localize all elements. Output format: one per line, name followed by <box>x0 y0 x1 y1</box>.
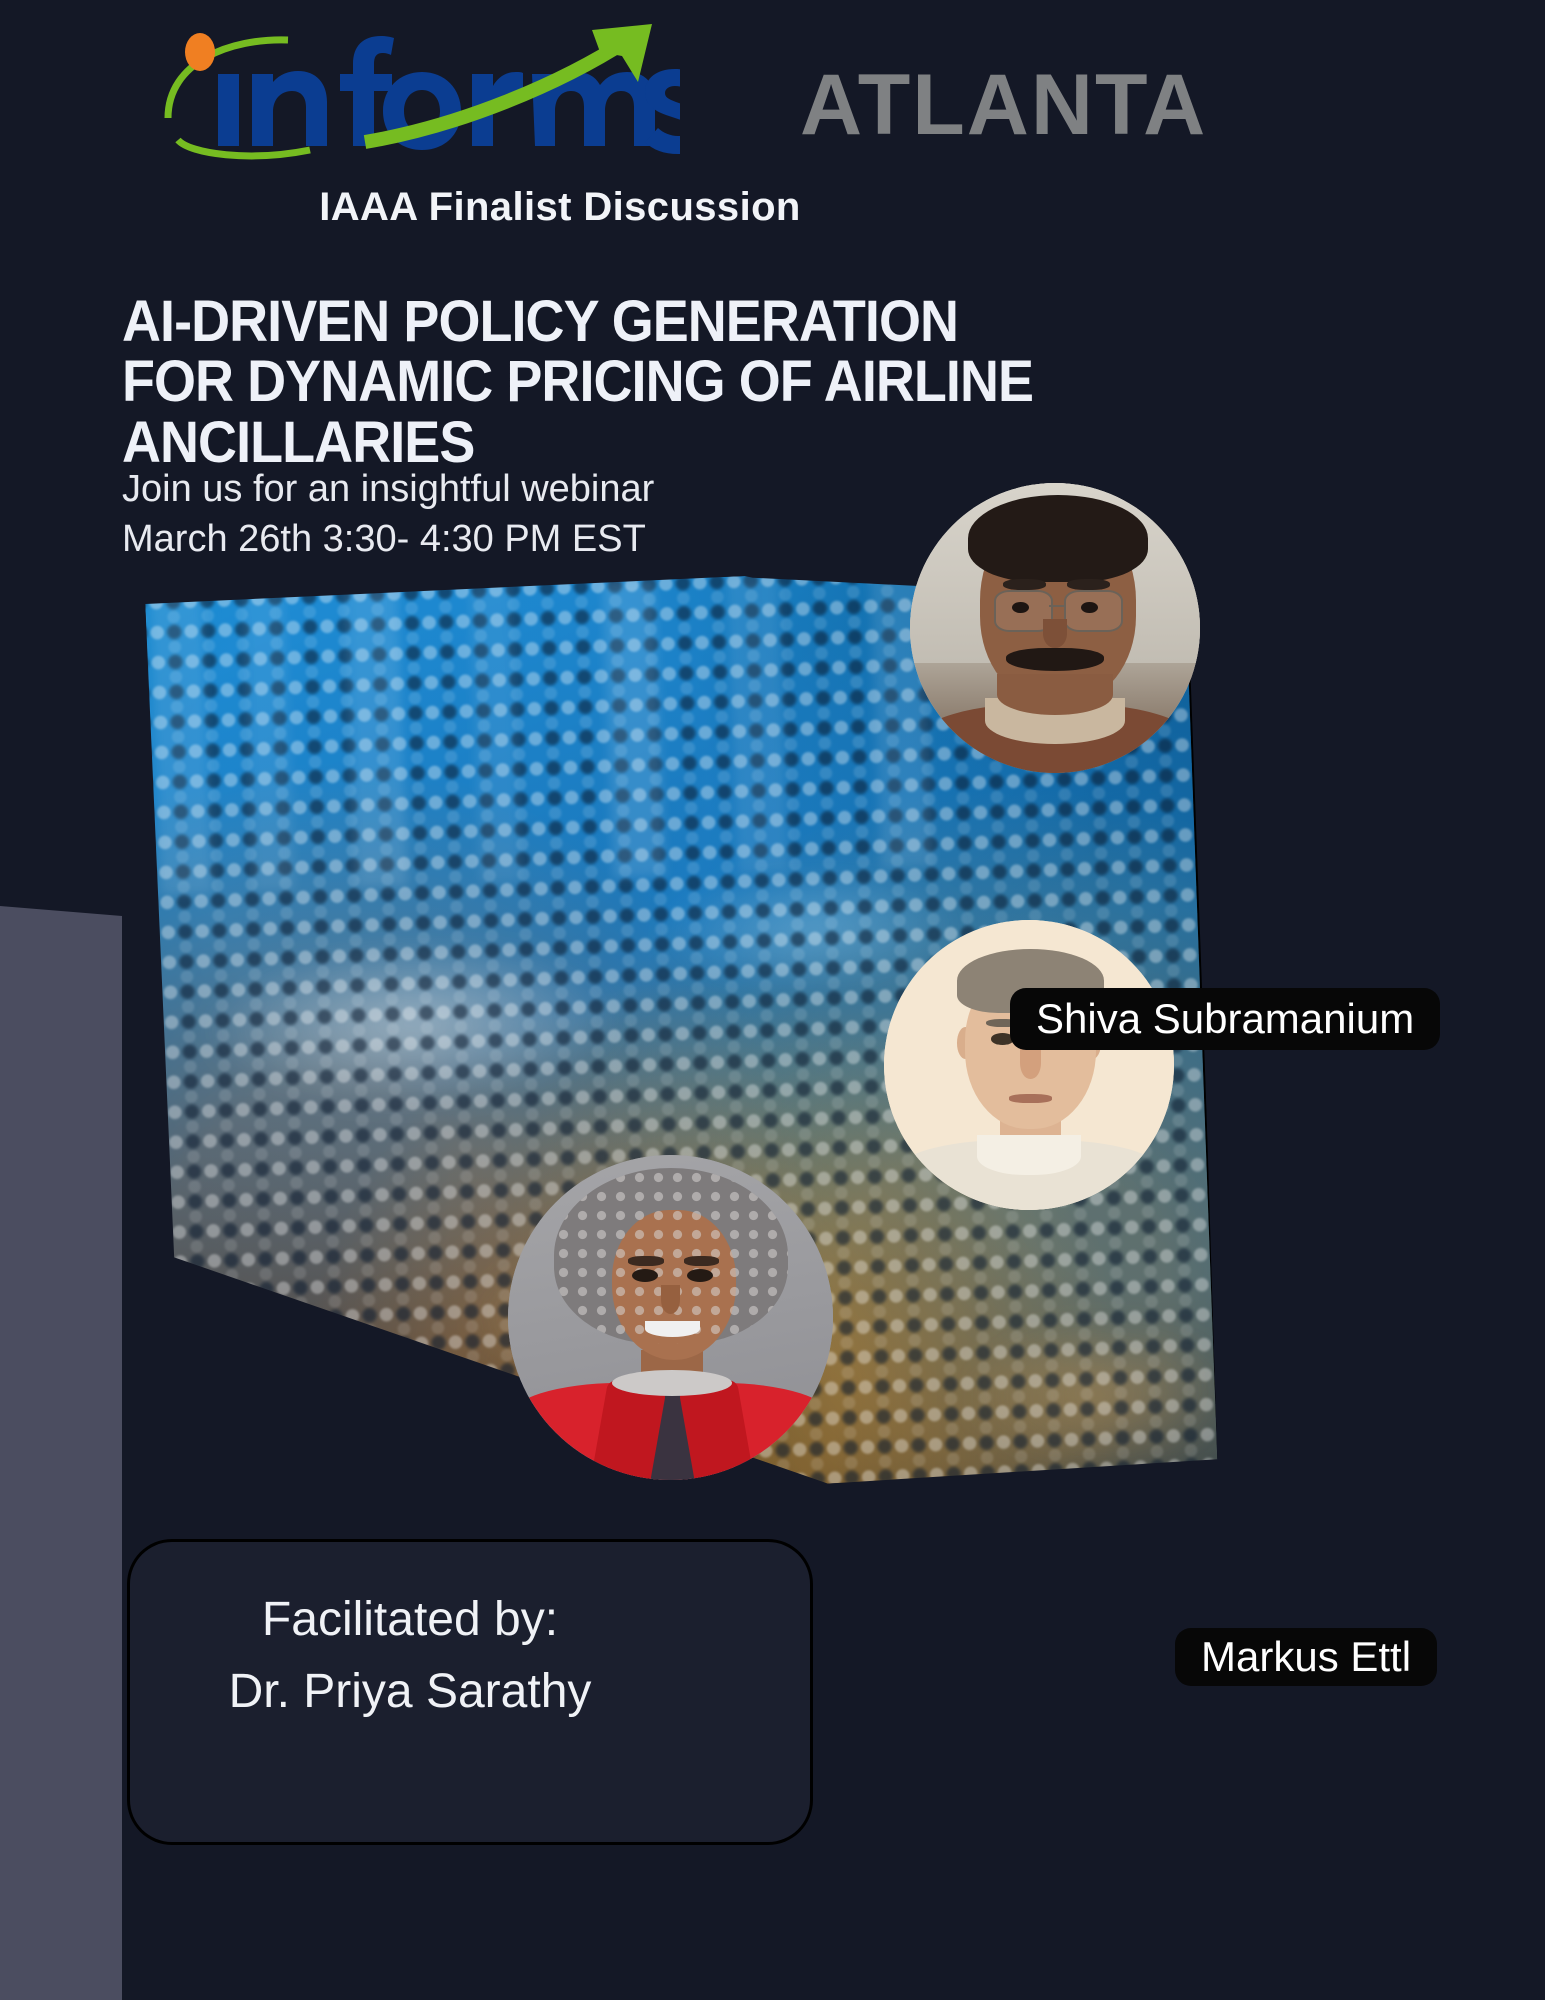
event-kicker: IAAA Finalist Discussion <box>0 185 1120 230</box>
poster-canvas: ATLANTA IAAA Finalist Discussion AI-DRIV… <box>0 0 1545 2000</box>
subtitle-invite: Join us for an insightful webinar <box>122 468 1022 511</box>
avatar-hair <box>968 495 1148 582</box>
logo-city-text: ATLANTA <box>800 62 1207 148</box>
speaker-name-badge-markus: Markus Ettl <box>1175 1628 1437 1686</box>
avatar-brow-left <box>628 1256 664 1266</box>
avatar-collar <box>977 1135 1081 1176</box>
avatar-smile <box>645 1321 700 1337</box>
avatar-brow-left <box>1003 579 1047 591</box>
subtitle-datetime: March 26th 3:30- 4:30 PM EST <box>122 518 1022 561</box>
avatar-brow-right <box>1067 579 1111 591</box>
avatar-nose <box>1020 1048 1040 1080</box>
avatar-priya-sarathy <box>508 1155 833 1480</box>
facilitator-label: Facilitated by: <box>130 1592 690 1647</box>
speaker-name-badge-shiva: Shiva Subramanium <box>1010 988 1440 1050</box>
avatar-eye-left <box>632 1269 658 1282</box>
avatar-hair-texture <box>554 1168 788 1344</box>
avatar-nose <box>1043 619 1066 648</box>
avatar-chin <box>997 674 1113 715</box>
page-title: AI-DRIVEN POLICY GENERATION FOR DYNAMIC … <box>122 292 1052 473</box>
title-line-3: ANCILLARIES <box>122 413 1052 473</box>
avatar-glasses-bridge <box>1049 605 1064 607</box>
informs-logo-icon <box>160 22 680 162</box>
facilitator-name: Dr. Priya Sarathy <box>130 1664 690 1719</box>
avatar-mouth <box>1009 1094 1053 1103</box>
avatar-eye-right <box>687 1269 713 1282</box>
avatar-shiva-subramanium <box>910 483 1200 773</box>
title-line-1: AI-DRIVEN POLICY GENERATION <box>122 292 1052 352</box>
facilitator-card: Facilitated by: Dr. Priya Sarathy <box>130 1542 810 1842</box>
avatar-necklace <box>612 1370 732 1396</box>
informs-atlanta-logo: ATLANTA <box>160 22 1060 162</box>
title-line-2: FOR DYNAMIC PRICING OF AIRLINE <box>122 352 1052 412</box>
avatar-brow-right <box>684 1256 720 1266</box>
avatar-markus-ettl <box>884 920 1174 1210</box>
